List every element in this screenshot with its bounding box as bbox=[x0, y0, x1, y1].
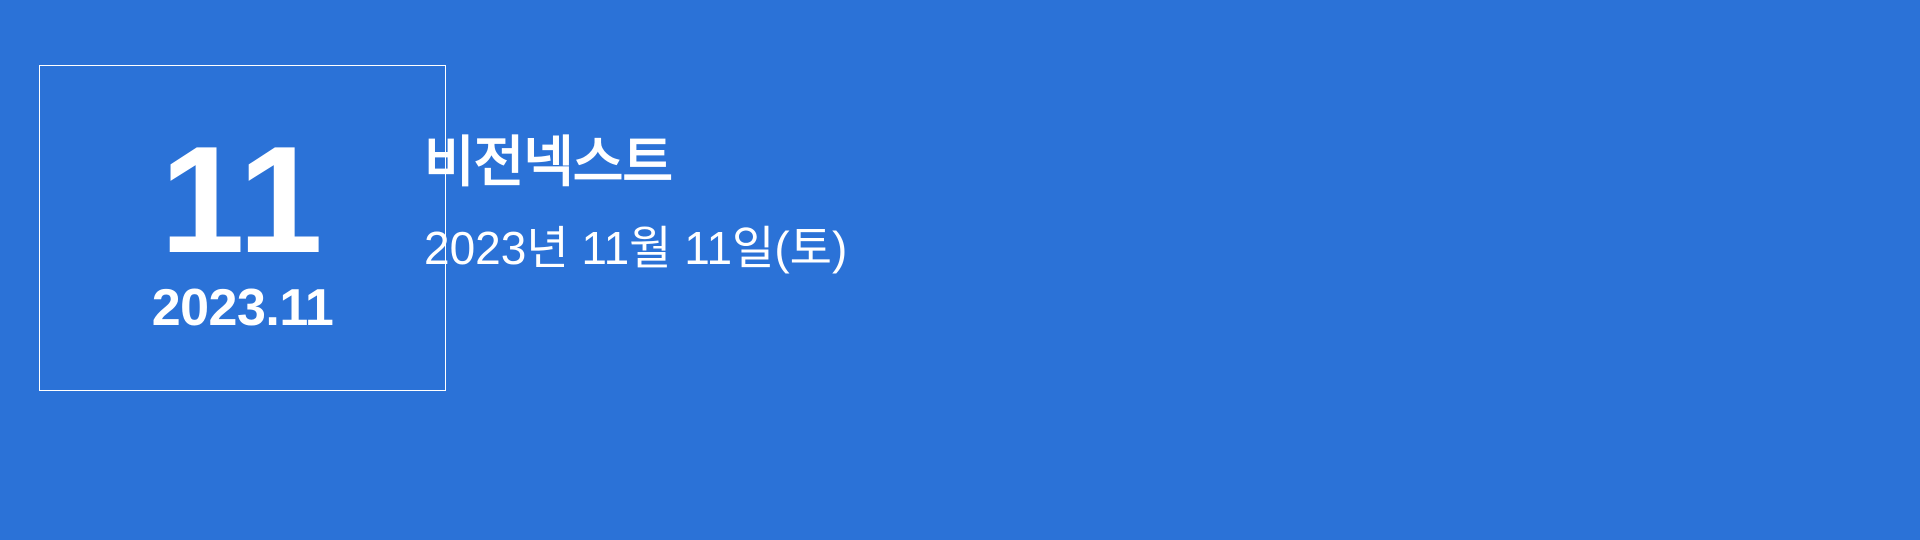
date-year-month: 2023.11 bbox=[152, 282, 334, 334]
event-date-card: 11 2023.11 비전넥스트 2023년 11월 11일(토) bbox=[0, 0, 1920, 540]
date-badge-box: 11 2023.11 bbox=[39, 65, 446, 391]
date-day-number: 11 bbox=[160, 128, 325, 272]
event-title: 비전넥스트 bbox=[424, 130, 1864, 195]
event-info-block: 비전넥스트 2023년 11월 11일(토) bbox=[424, 130, 1864, 276]
event-date-text: 2023년 11월 11일(토) bbox=[424, 221, 1864, 276]
